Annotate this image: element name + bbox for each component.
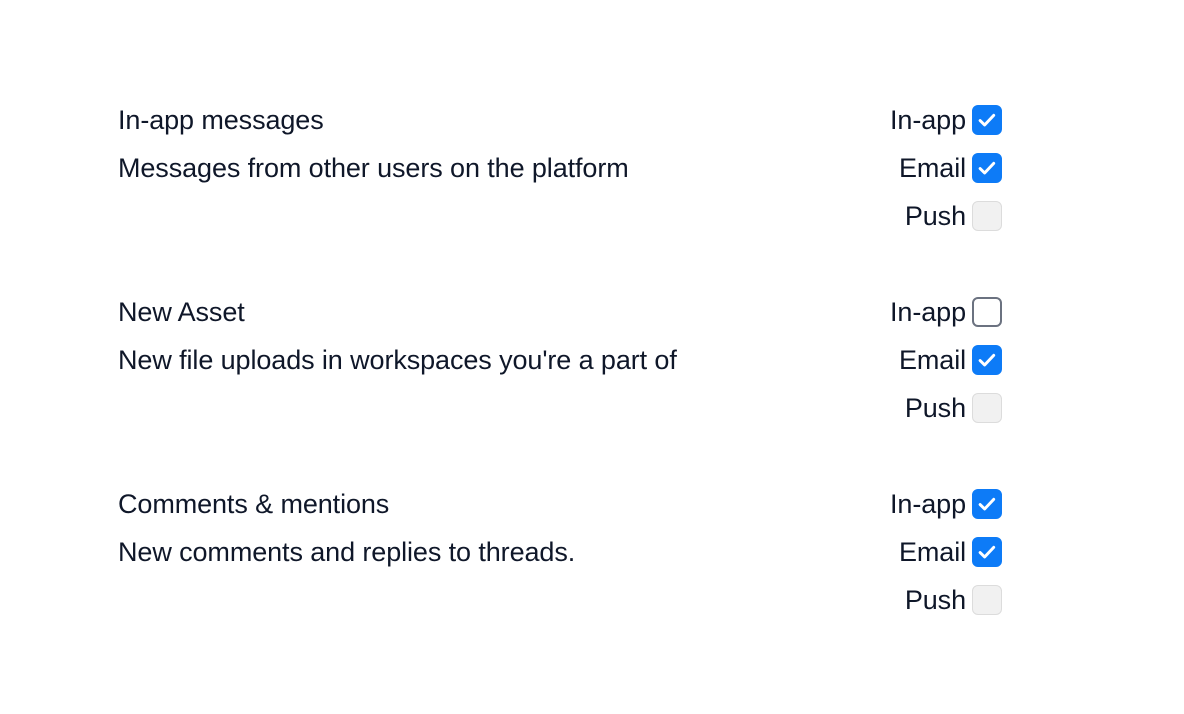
preference-text-block: Comments & mentions New comments and rep…: [118, 480, 858, 576]
preference-group: In-app messages Messages from other user…: [118, 0, 1002, 192]
channel-row: Email: [862, 336, 1002, 384]
channel-row: In-app: [862, 96, 1002, 144]
channel-row: Email: [862, 144, 1002, 192]
preference-title: New Asset: [118, 288, 858, 336]
channel-row: In-app: [862, 288, 1002, 336]
checkbox-email[interactable]: [972, 345, 1002, 375]
channel-row: In-app: [862, 480, 1002, 528]
preference-description: New comments and replies to threads.: [118, 528, 858, 576]
channel-label: In-app: [890, 288, 966, 336]
check-icon: [976, 493, 998, 515]
checkbox-email[interactable]: [972, 153, 1002, 183]
channel-label: In-app: [890, 96, 966, 144]
preference-title: Comments & mentions: [118, 480, 858, 528]
channel-row: Push: [862, 576, 1002, 624]
checkbox-in-app[interactable]: [972, 105, 1002, 135]
preference-group: Comments & mentions New comments and rep…: [118, 384, 1002, 576]
channel-list: In-app Email Push: [862, 480, 1002, 624]
channel-label: Push: [905, 576, 966, 624]
preference-text-block: New Asset New file uploads in workspaces…: [118, 288, 858, 384]
preference-group: New Asset New file uploads in workspaces…: [118, 192, 1002, 384]
checkbox-in-app[interactable]: [972, 297, 1002, 327]
checkbox-email[interactable]: [972, 537, 1002, 567]
check-icon: [976, 157, 998, 179]
check-icon: [976, 541, 998, 563]
preference-description: New file uploads in workspaces you're a …: [118, 336, 858, 384]
preference-title: In-app messages: [118, 96, 858, 144]
check-icon: [976, 109, 998, 131]
notification-preferences-panel: In-app messages Messages from other user…: [118, 0, 1002, 576]
channel-label: Email: [899, 336, 966, 384]
check-icon: [976, 349, 998, 371]
preference-description: Messages from other users on the platfor…: [118, 144, 858, 192]
channel-row: Email: [862, 528, 1002, 576]
checkbox-in-app[interactable]: [972, 489, 1002, 519]
checkbox-push: [972, 585, 1002, 615]
channel-label: In-app: [890, 480, 966, 528]
channel-label: Email: [899, 144, 966, 192]
preference-text-block: In-app messages Messages from other user…: [118, 96, 858, 192]
channel-label: Email: [899, 528, 966, 576]
